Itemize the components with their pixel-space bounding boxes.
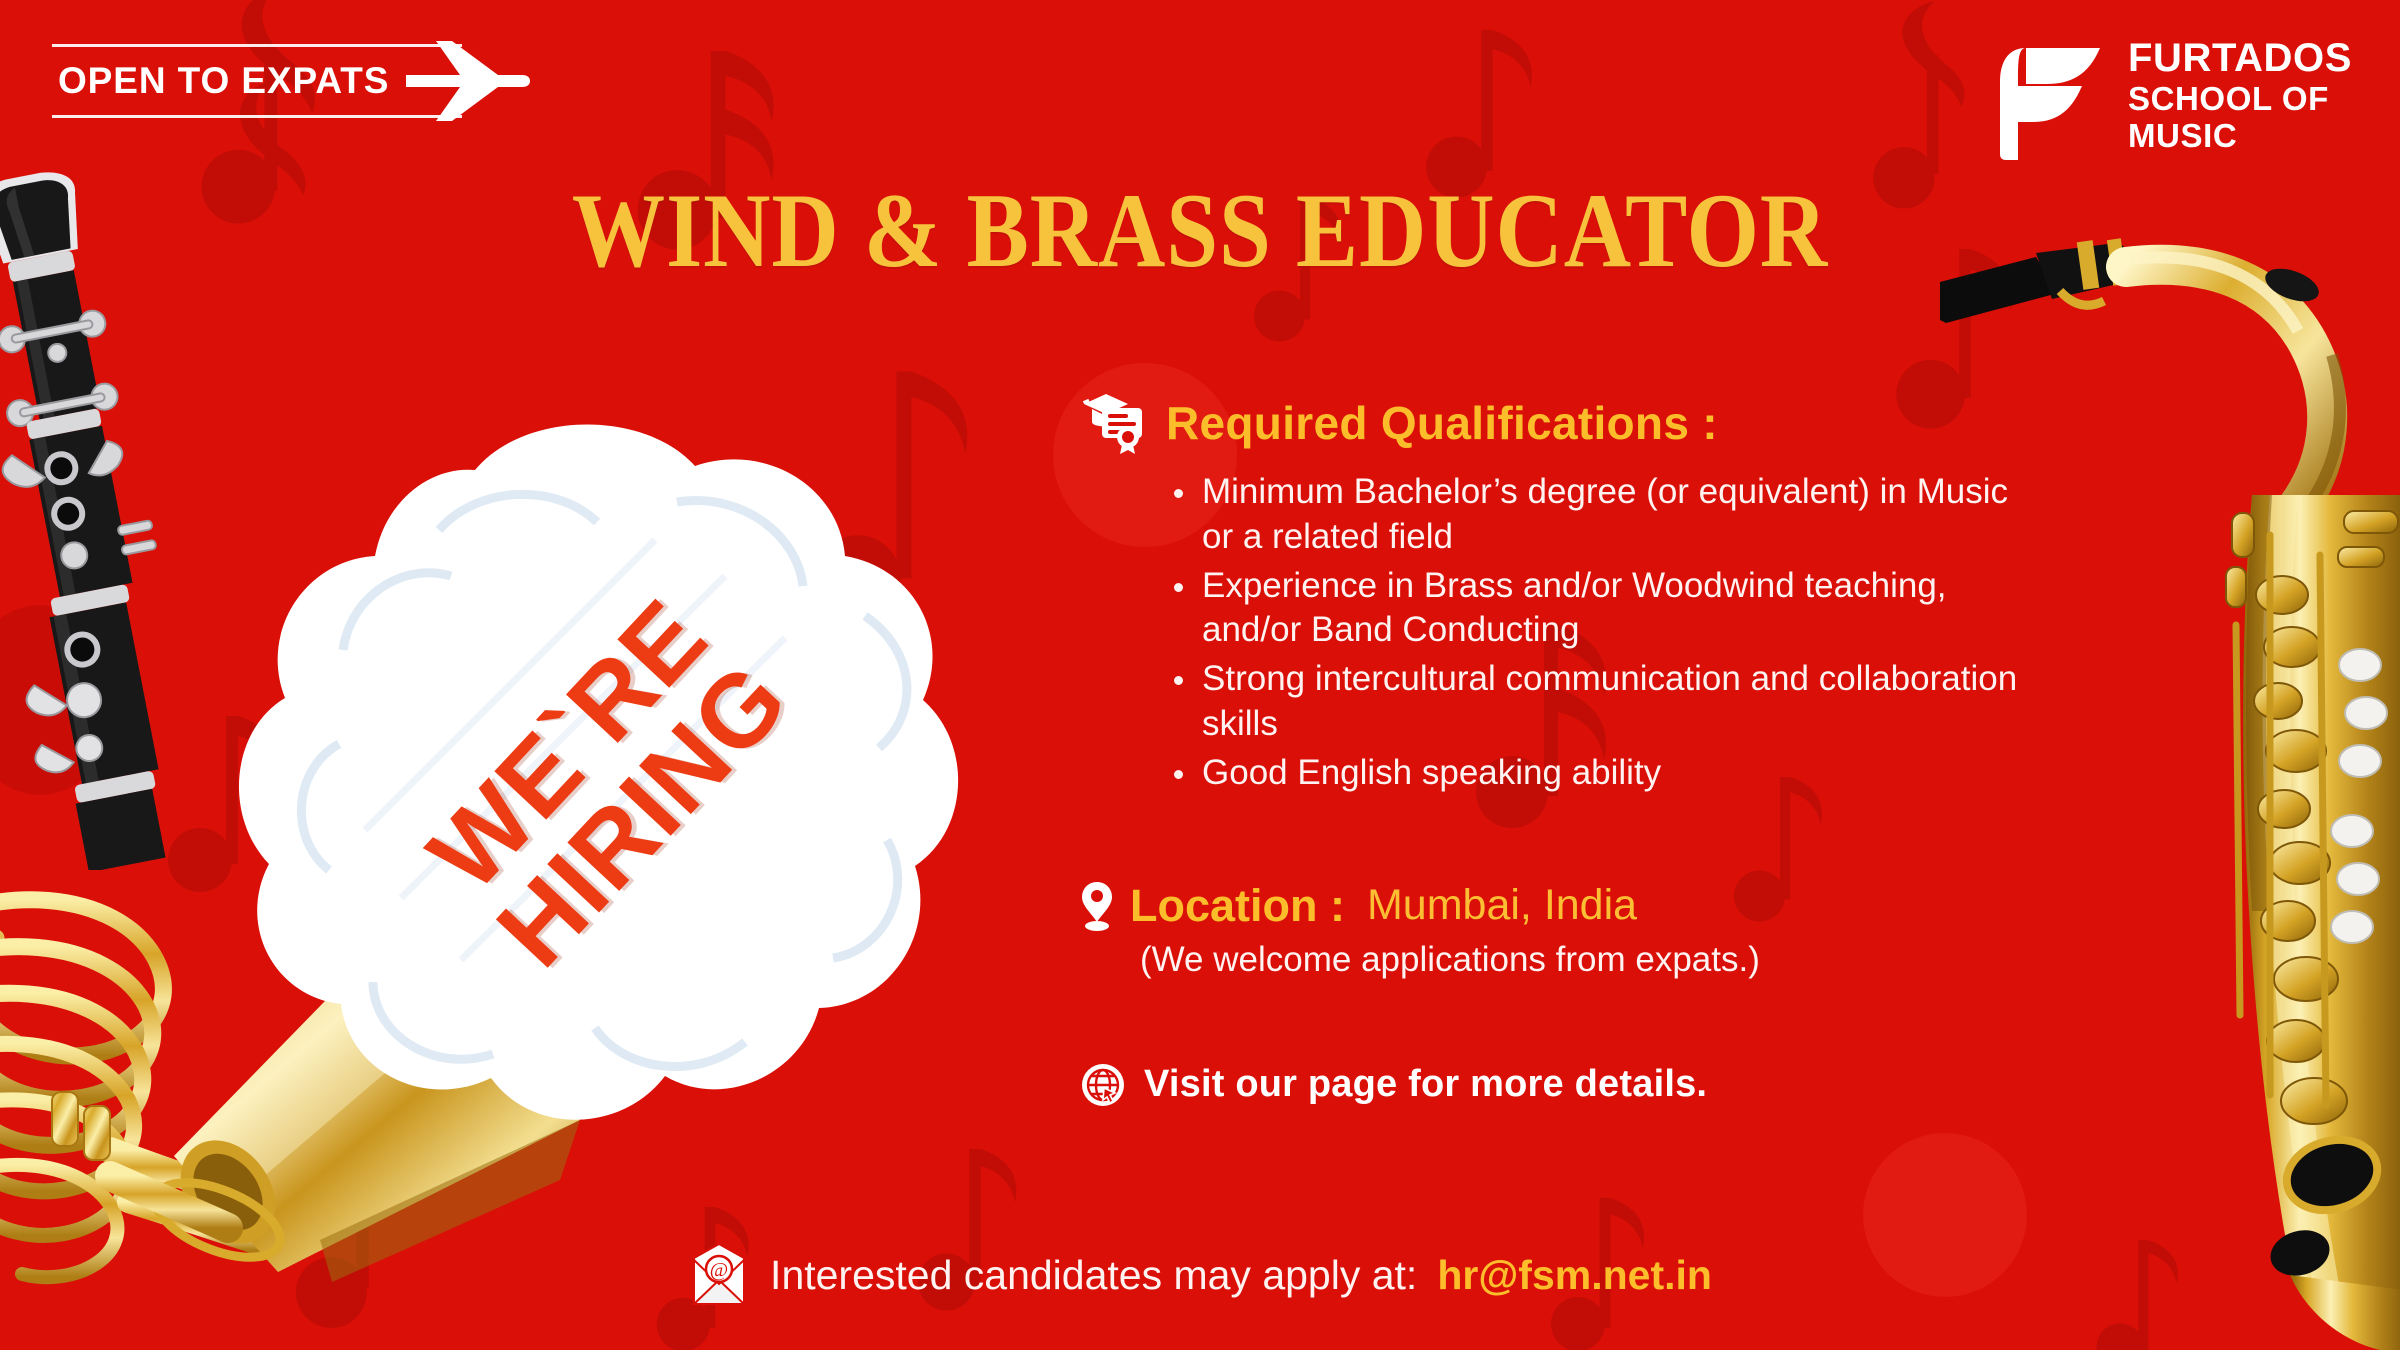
apply-email[interactable]: hr@fsm.net.in <box>1437 1252 1712 1299</box>
open-to-expats-label: OPEN TO EXPATS <box>58 60 389 102</box>
list-item: Strong intercultural communication and c… <box>1172 657 2020 747</box>
fsm-logo: FURTADOS SCHOOL OF MUSIC <box>1996 36 2352 160</box>
visit-page-row[interactable]: Visit our page for more details. <box>1080 1062 2020 1108</box>
list-item: Minimum Bachelor’s degree (or equivalent… <box>1172 470 2020 560</box>
apply-bar: @ Interested candidates may apply at: hr… <box>0 1242 2400 1308</box>
qualifications-header: Required Qualifications : <box>1080 392 2020 454</box>
page-title: WIND & BRASS EDUCATOR <box>144 170 2256 292</box>
were-hiring-badge: WE`RE HIRING <box>225 400 985 1160</box>
globe-cursor-icon <box>1080 1062 1126 1108</box>
list-item: Good English speaking ability <box>1172 751 2020 796</box>
job-details: Required Qualifications : Minimum Bachel… <box>1080 392 2020 1108</box>
location-value: Mumbai, India <box>1367 881 1637 930</box>
location-label: Location : <box>1130 880 1345 932</box>
apply-text: Interested candidates may apply at: <box>770 1252 1417 1299</box>
airplane-icon <box>402 35 530 127</box>
banner-rule-bottom <box>52 115 462 118</box>
brand-line-3: MUSIC <box>2128 118 2352 155</box>
location-section: Location : Mumbai, India (We welcome app… <box>1080 880 2020 980</box>
svg-text:@: @ <box>710 1259 728 1281</box>
fsm-feather-f-logo-icon <box>1996 42 2106 160</box>
location-note: (We welcome applications from expats.) <box>1140 940 2020 980</box>
banner-rule-top <box>52 44 462 47</box>
graduation-certificate-icon <box>1080 392 1148 454</box>
location-row: Location : Mumbai, India <box>1080 880 2020 932</box>
brand-line-2: SCHOOL OF <box>2128 81 2352 118</box>
recruitment-poster: OPEN TO EXPATS FURTADOS SCHOOL OF MUSIC … <box>0 0 2400 1350</box>
map-pin-icon <box>1080 880 1114 932</box>
open-to-expats-banner: OPEN TO EXPATS <box>40 42 530 120</box>
visit-page-text: Visit our page for more details. <box>1144 1063 1707 1106</box>
qualifications-heading: Required Qualifications : <box>1166 396 1718 450</box>
list-item: Experience in Brass and/or Woodwind teac… <box>1172 564 2020 654</box>
brand-wordmark: FURTADOS SCHOOL OF MUSIC <box>2128 36 2352 155</box>
brand-line-1: FURTADOS <box>2128 36 2352 81</box>
qualifications-list: Minimum Bachelor’s degree (or equivalent… <box>1080 470 2020 796</box>
email-envelope-at-icon: @ <box>688 1242 750 1308</box>
